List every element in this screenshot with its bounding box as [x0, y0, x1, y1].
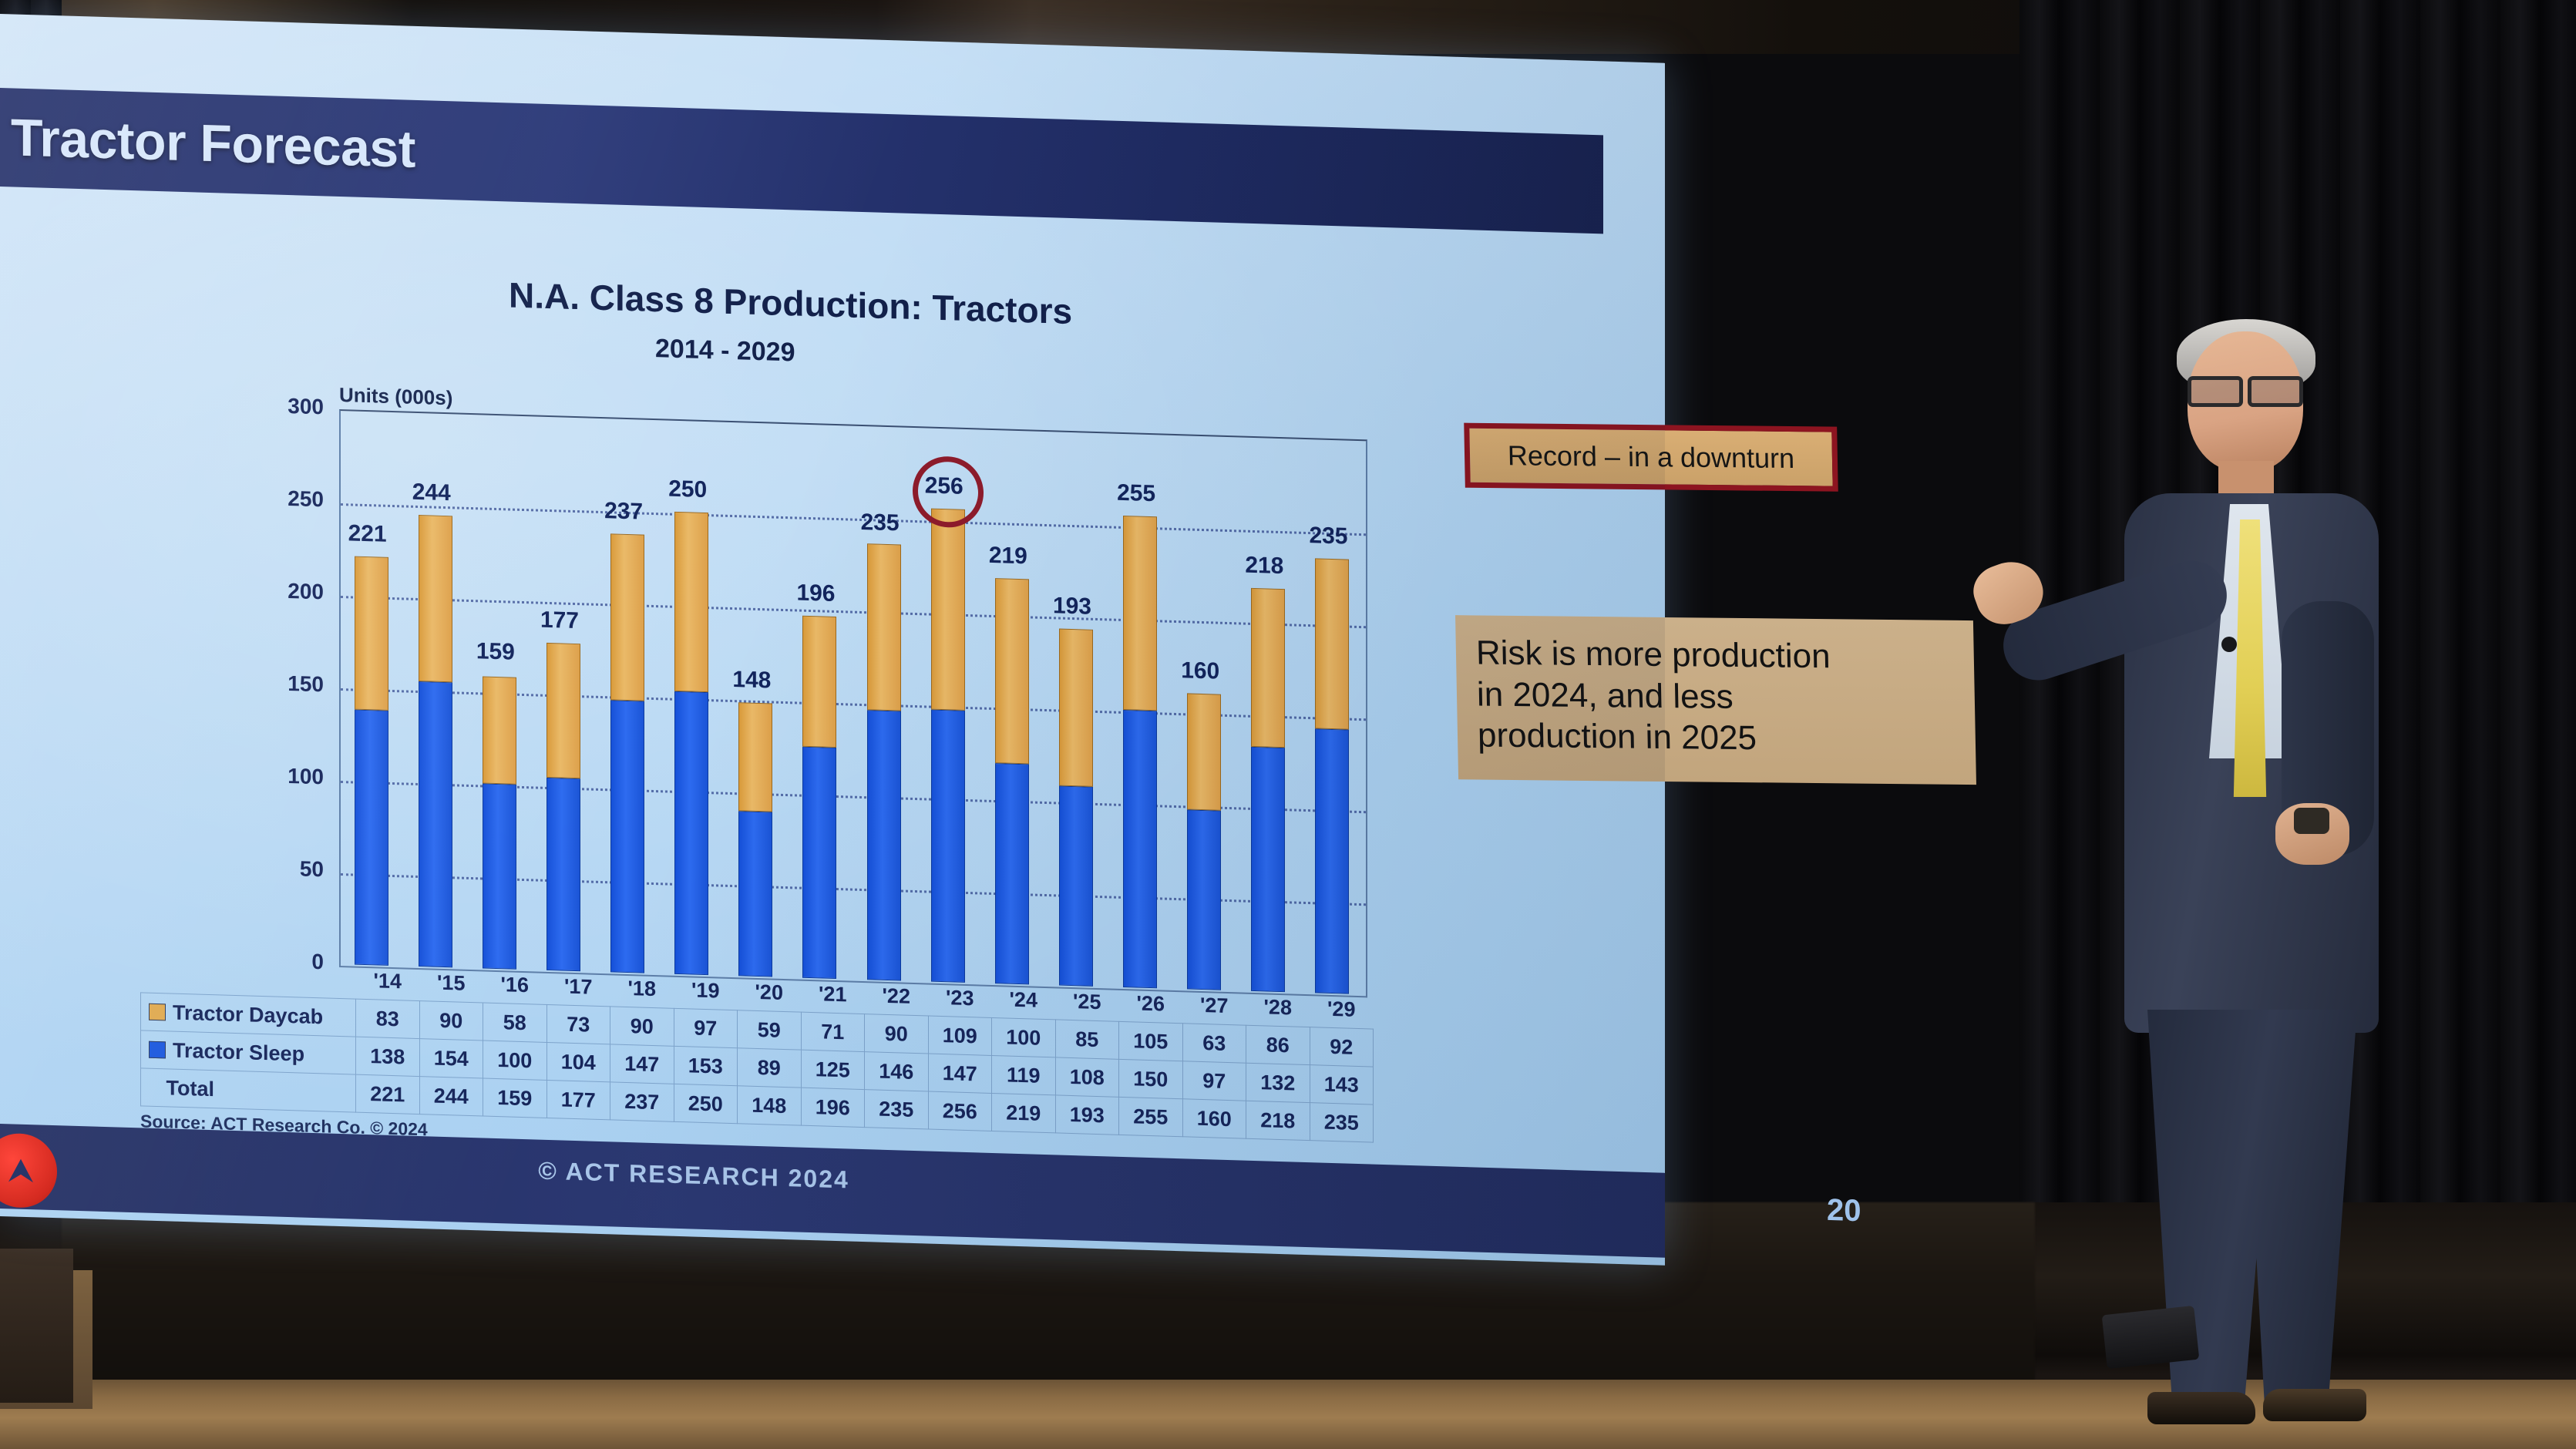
chart-title: N.A. Class 8 Production: Tractors — [509, 274, 1072, 332]
chart-y-axis-label: Units (000s) — [339, 383, 452, 410]
bar-column — [1059, 431, 1093, 987]
glasses-icon — [2186, 376, 2305, 399]
table-cell: '17 — [546, 967, 610, 1007]
bar-segment-sleep — [867, 710, 901, 981]
table-cell: 147 — [610, 1044, 674, 1084]
table-cell: 100 — [992, 1017, 1056, 1057]
bar-segment-sleep — [419, 681, 452, 967]
table-cell: '29 — [1310, 990, 1374, 1029]
speaker-shoe-left — [2147, 1392, 2255, 1424]
slide-title: Tractor Forecast — [0, 107, 415, 180]
bar-segment-sleep — [802, 747, 836, 979]
bar-segment-daycab — [1123, 516, 1157, 711]
bar-segment-sleep — [1123, 710, 1157, 988]
table-cell: 92 — [1310, 1027, 1374, 1067]
bar-segment-sleep — [1315, 728, 1349, 993]
table-cell: 119 — [992, 1055, 1056, 1094]
table-cell: 89 — [738, 1048, 802, 1088]
table-cell: '25 — [1055, 982, 1119, 1021]
bar-segment-sleep — [995, 763, 1029, 984]
table-cell: 255 — [1119, 1097, 1183, 1136]
table-cell: 132 — [1246, 1063, 1310, 1102]
table-cell: 237 — [610, 1082, 674, 1121]
table-cell: 221 — [356, 1074, 420, 1114]
presentation-clicker — [2294, 808, 2329, 834]
bar-value-label: 235 — [861, 509, 900, 536]
bar-value-label: 255 — [1117, 480, 1155, 507]
table-cell: 159 — [483, 1078, 547, 1118]
bar-column — [738, 421, 772, 977]
y-axis-tick: 300 — [254, 393, 324, 420]
table-cell: '18 — [610, 969, 674, 1008]
projected-slide: Tractor Forecast N.A. Class 8 Production… — [0, 14, 1665, 1266]
table-cell: 244 — [419, 1077, 483, 1116]
table-cell: 153 — [674, 1046, 738, 1085]
table-row-header: Tractor Sleep — [141, 1030, 356, 1074]
bar-value-label: 218 — [1245, 552, 1283, 579]
callout-risk-line1: Risk is more production — [1475, 632, 1954, 678]
table-cell: 150 — [1119, 1059, 1183, 1098]
bar-segment-daycab — [1315, 558, 1349, 729]
table-cell: '19 — [674, 971, 738, 1010]
stage-floor-monitor — [2102, 1306, 2200, 1369]
bar-segment-sleep — [483, 783, 516, 969]
bar-segment-sleep — [1187, 810, 1221, 990]
bar-segment-daycab — [802, 615, 836, 748]
bar-segment-daycab — [931, 508, 965, 711]
table-cell: 125 — [801, 1050, 865, 1089]
table-cell: 58 — [483, 1003, 547, 1042]
chart-bars: 2212441591772372501481962352562191932551… — [339, 409, 1364, 994]
table-cell: 148 — [738, 1086, 802, 1125]
table-row-header: Total — [141, 1068, 356, 1112]
table-cell: '26 — [1119, 984, 1183, 1024]
table-cell: 146 — [865, 1052, 929, 1091]
table-cell: 63 — [1182, 1024, 1246, 1063]
table-cell: 193 — [1055, 1095, 1119, 1135]
table-cell: 73 — [546, 1004, 610, 1044]
bar-value-label: 148 — [732, 667, 771, 694]
bar-value-label: 237 — [604, 498, 643, 525]
table-cell: 177 — [546, 1080, 610, 1119]
table-cell: 97 — [1182, 1061, 1246, 1101]
slide-title-bar: Tractor Forecast — [0, 88, 1603, 234]
table-cell: 90 — [610, 1007, 674, 1046]
bar-column — [483, 413, 516, 969]
table-cell: 160 — [1182, 1099, 1246, 1138]
bar-column — [355, 410, 388, 966]
bar-column — [1251, 436, 1285, 992]
bar-segment-daycab — [355, 556, 388, 710]
table-cell: '14 — [356, 962, 420, 1001]
bar-value-label: 244 — [412, 479, 451, 506]
table-cell: '22 — [865, 977, 929, 1016]
callout-risk: Risk is more production in 2024, and les… — [1455, 615, 1976, 785]
callout-risk-line2: in 2024, and less — [1476, 674, 1955, 720]
table-cell: 71 — [801, 1012, 865, 1051]
table-cell: '21 — [801, 975, 865, 1014]
callout-risk-line3: production in 2025 — [1477, 715, 1956, 761]
bar-segment-daycab — [1187, 693, 1221, 810]
table-cell: '16 — [483, 965, 547, 1004]
y-axis-tick: 100 — [254, 763, 324, 790]
bar-value-label: 235 — [1309, 523, 1347, 550]
bar-segment-daycab — [546, 643, 580, 778]
bar-value-label: 196 — [796, 580, 835, 607]
table-cell: 196 — [801, 1088, 865, 1127]
table-cell: '23 — [928, 979, 992, 1018]
y-axis-tick: 50 — [254, 856, 324, 883]
table-cell: 90 — [419, 1001, 483, 1041]
table-cell: 100 — [483, 1041, 547, 1080]
stage-riser — [0, 1249, 73, 1403]
table-cell: '24 — [992, 980, 1056, 1020]
bar-column — [1315, 438, 1349, 993]
bar-segment-sleep — [355, 709, 388, 965]
bar-value-label: 159 — [476, 639, 515, 666]
chart-subtitle: 2014 - 2029 — [655, 334, 795, 368]
bar-segment-daycab — [995, 578, 1029, 764]
table-cell: 85 — [1055, 1020, 1119, 1059]
table-cell: 59 — [738, 1010, 802, 1050]
callout-record: Record – in a downturn — [1464, 423, 1838, 492]
bar-value-label: 221 — [348, 520, 387, 547]
table-cell: 138 — [356, 1037, 420, 1076]
table-row-header: Tractor Daycab — [141, 993, 356, 1037]
bar-column — [995, 429, 1029, 984]
bar-segment-daycab — [867, 543, 901, 711]
speaker-shoe-right — [2263, 1389, 2366, 1421]
table-cell: 104 — [546, 1042, 610, 1081]
table-cell: '27 — [1182, 986, 1246, 1025]
table-cell: 86 — [1246, 1025, 1310, 1064]
bar-segment-sleep — [1251, 747, 1285, 992]
bar-value-label: 193 — [1053, 593, 1091, 620]
table-cell: 218 — [1246, 1101, 1310, 1140]
y-axis-tick: 250 — [254, 486, 324, 513]
table-cell: 108 — [1055, 1057, 1119, 1097]
table-cell: 250 — [674, 1084, 738, 1123]
table-cell: 143 — [1310, 1065, 1374, 1104]
bar-value-label: 160 — [1181, 657, 1219, 684]
y-axis-tick: 200 — [254, 578, 324, 605]
bar-value-label: 177 — [540, 607, 579, 634]
bar-segment-sleep — [931, 710, 965, 983]
bar-segment-daycab — [674, 512, 708, 692]
table-cell: '28 — [1246, 988, 1310, 1027]
bar-column — [802, 423, 836, 979]
table-cell: 256 — [928, 1091, 992, 1131]
bar-segment-daycab — [1059, 628, 1093, 786]
bar-column — [546, 415, 580, 971]
bar-column — [1187, 434, 1221, 990]
table-row-header — [141, 955, 356, 999]
table-cell: 235 — [1310, 1103, 1374, 1142]
bar-segment-sleep — [738, 812, 772, 977]
lapel-microphone-icon — [2221, 637, 2237, 652]
table-cell: 83 — [356, 999, 420, 1038]
table-cell: '20 — [738, 973, 802, 1012]
table-cell: 235 — [865, 1090, 929, 1129]
table-cell: 109 — [928, 1016, 992, 1055]
bar-value-label: 219 — [989, 543, 1027, 570]
table-cell: 147 — [928, 1054, 992, 1093]
conference-stage-photo: Tractor Forecast N.A. Class 8 Production… — [0, 0, 2576, 1449]
table-cell: 105 — [1119, 1021, 1183, 1061]
bar-segment-sleep — [610, 701, 644, 973]
table-cell: 97 — [674, 1008, 738, 1047]
bar-value-label: 250 — [668, 476, 707, 503]
bar-segment-daycab — [483, 676, 516, 784]
bar-column — [867, 425, 901, 980]
bar-segment-daycab — [610, 534, 644, 701]
callout-record-text: Record – in a downturn — [1508, 439, 1795, 475]
table-cell: '15 — [419, 963, 483, 1003]
bar-column — [1123, 432, 1157, 988]
bar-segment-sleep — [674, 691, 708, 975]
bar-segment-daycab — [738, 702, 772, 812]
bar-segment-daycab — [419, 515, 452, 682]
slide-page-number: 20 — [1827, 1193, 1861, 1229]
bar-segment-daycab — [1251, 588, 1285, 748]
speaker-presenter — [2073, 331, 2428, 1333]
table-cell: 154 — [419, 1039, 483, 1078]
bar-segment-sleep — [1059, 785, 1093, 986]
y-axis-tick: 150 — [254, 671, 324, 698]
bar-segment-sleep — [546, 778, 580, 971]
table-cell: 219 — [992, 1093, 1056, 1132]
table-cell: 90 — [865, 1014, 929, 1054]
